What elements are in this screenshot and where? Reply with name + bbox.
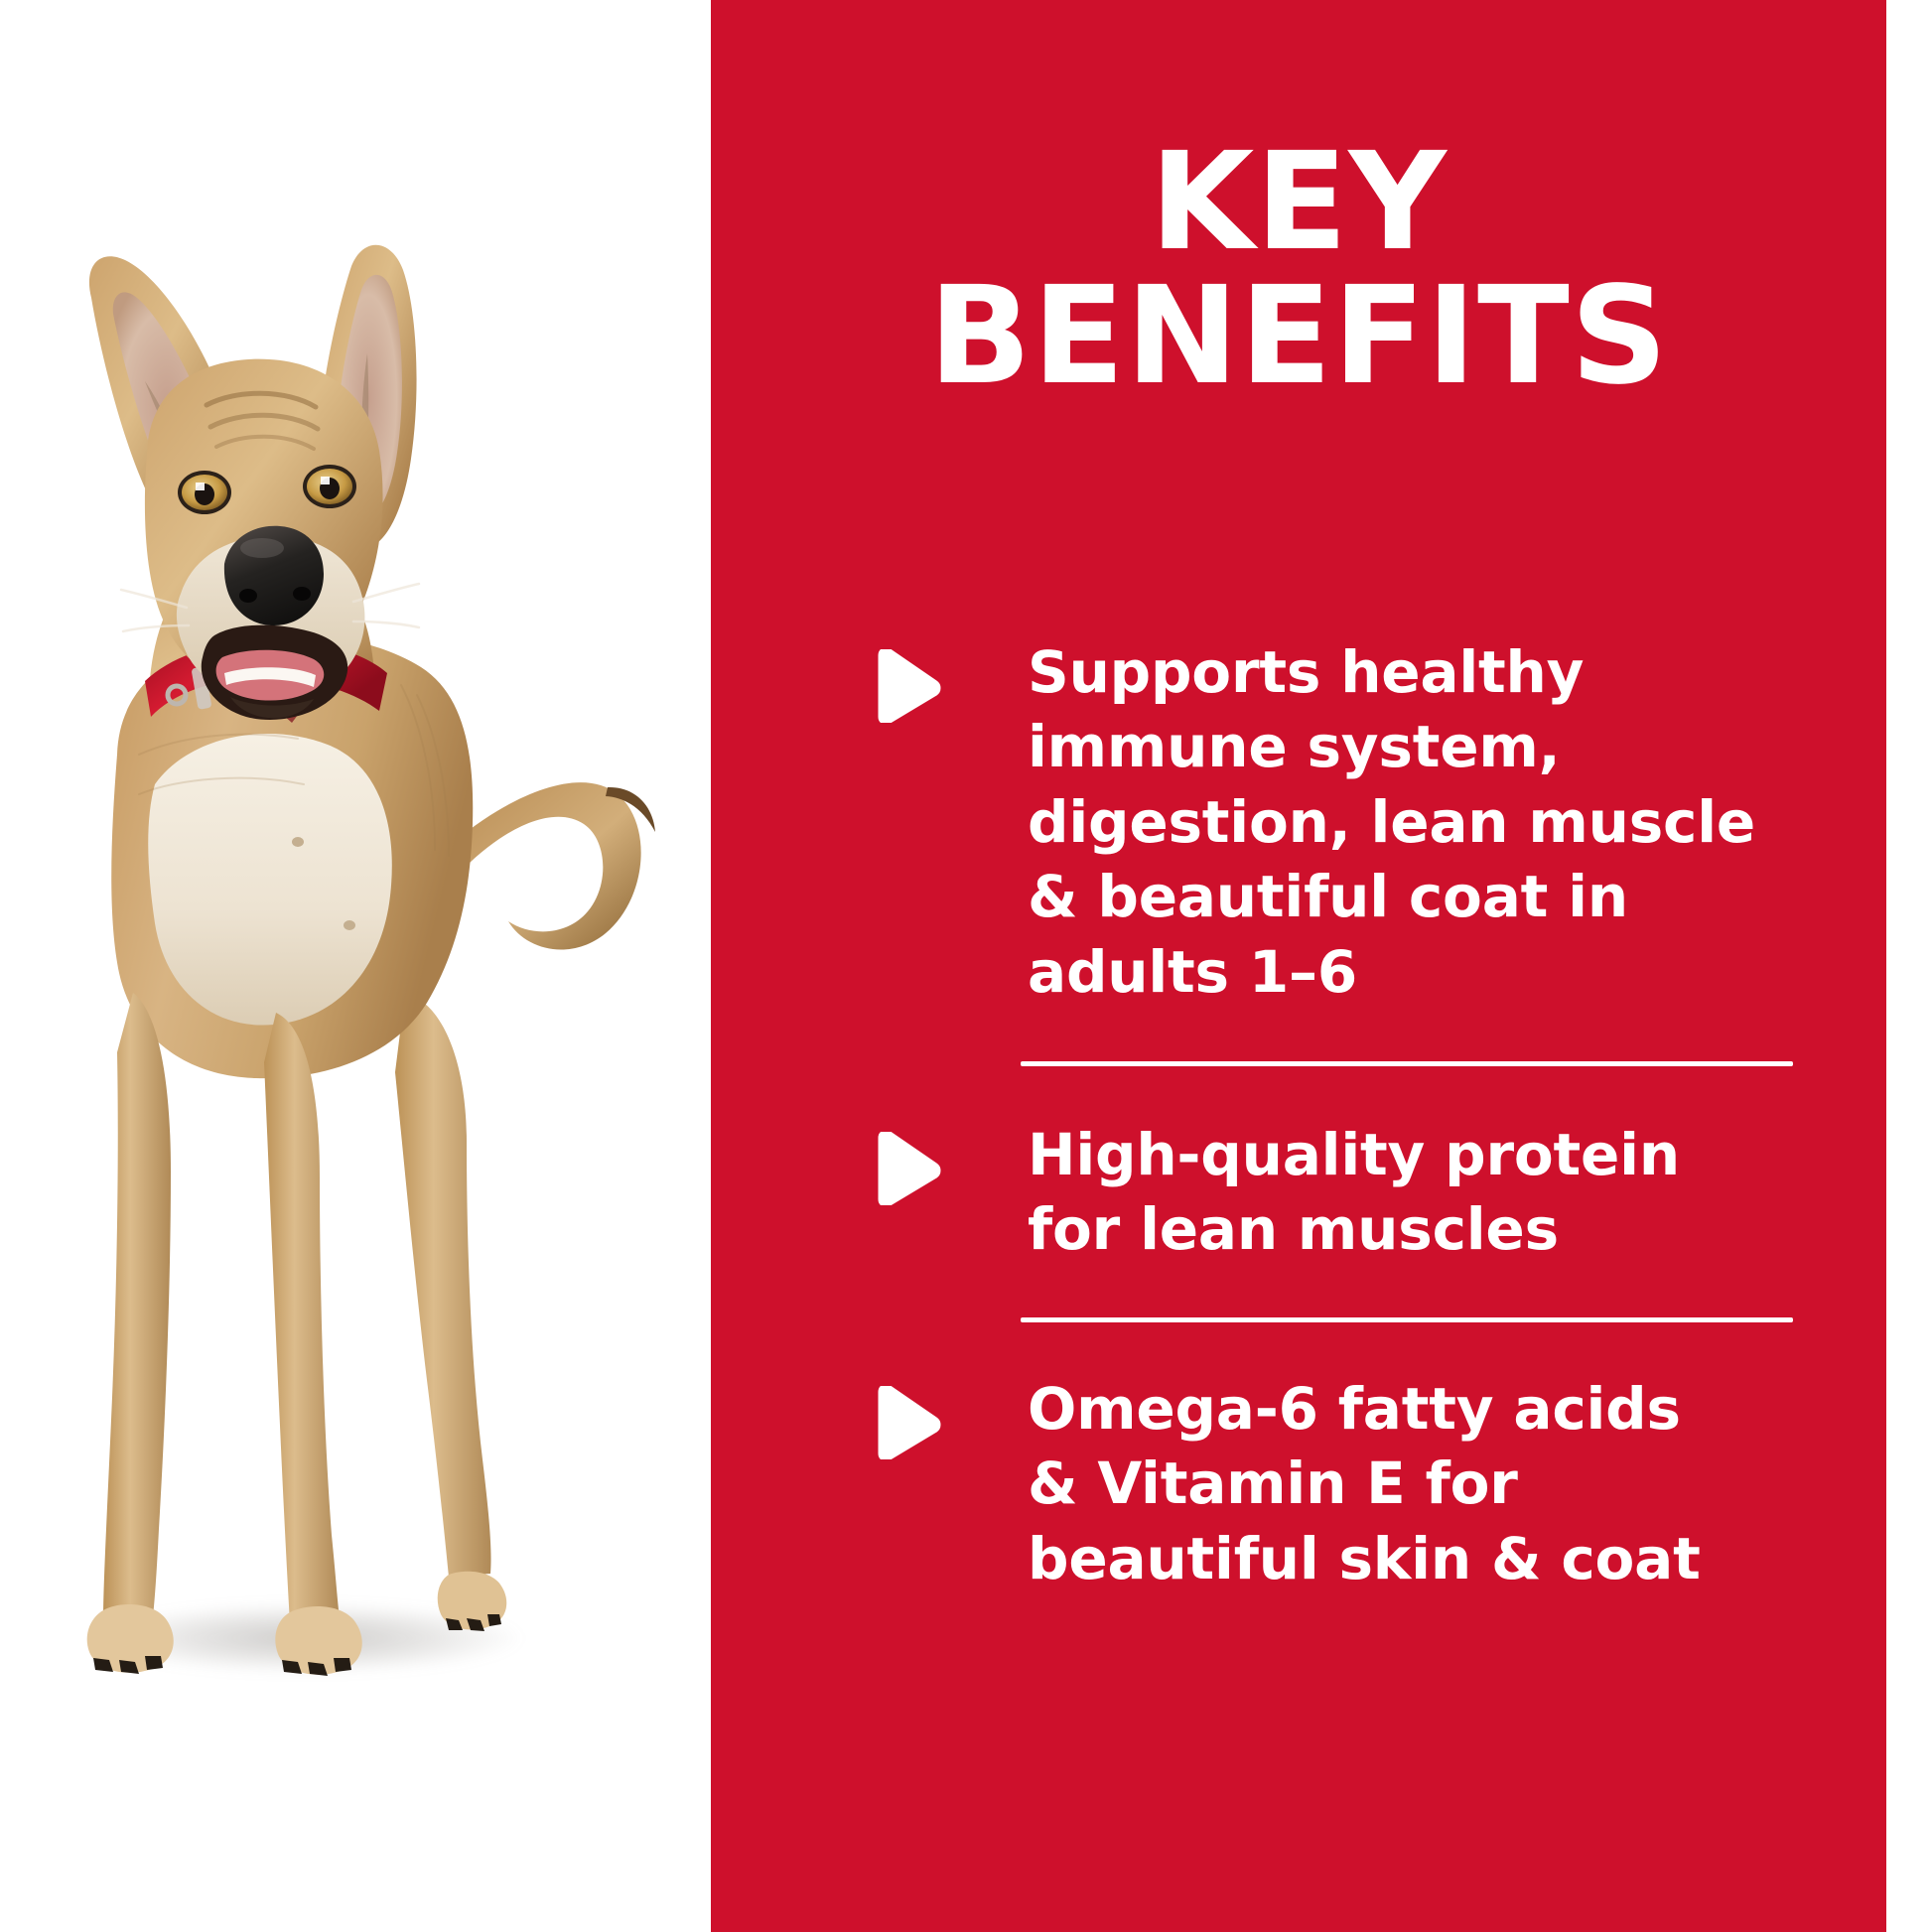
- dog-front-leg-right: [264, 1013, 340, 1622]
- triangle-right-icon: [872, 1132, 941, 1205]
- dog-front-leg-left: [103, 993, 171, 1620]
- triangle-right-icon: [872, 1386, 941, 1459]
- benefit-text-3: Omega-6 fatty acids & Vitamin E for beau…: [1028, 1372, 1864, 1596]
- dog-tail: [446, 782, 641, 949]
- dog-chest: [148, 734, 392, 1026]
- benefit-item-3: Omega-6 fatty acids & Vitamin E for beau…: [872, 1372, 1864, 1596]
- page-title: KEY BENEFITS: [711, 139, 1886, 401]
- page-title-line-1: KEY: [711, 139, 1886, 267]
- triangle-right-icon: [872, 649, 941, 723]
- benefit-item-1: Supports healthy immune system, digestio…: [872, 635, 1864, 1010]
- dog-eye-right: [303, 465, 356, 508]
- benefit-item-2: High-quality protein for lean muscles: [872, 1118, 1864, 1268]
- dog-photo: [0, 0, 711, 1932]
- benefit-text-1: Supports healthy immune system, digestio…: [1028, 635, 1864, 1010]
- dog-eye-left: [178, 471, 231, 514]
- key-benefits-panel: KEY BENEFITS Supports healthy immune sys…: [0, 0, 1932, 1932]
- benefits-list: Supports healthy immune system, digestio…: [872, 635, 1864, 1596]
- benefits-red-panel: KEY BENEFITS Supports healthy immune sys…: [711, 0, 1886, 1932]
- dog-illustration: [0, 0, 711, 1932]
- benefit-text-2: High-quality protein for lean muscles: [1028, 1118, 1864, 1268]
- right-white-margin: [1886, 0, 1932, 1932]
- photo-panel: [0, 0, 711, 1932]
- page-title-line-2: BENEFITS: [711, 273, 1886, 401]
- dog-hind-leg-far: [395, 993, 491, 1577]
